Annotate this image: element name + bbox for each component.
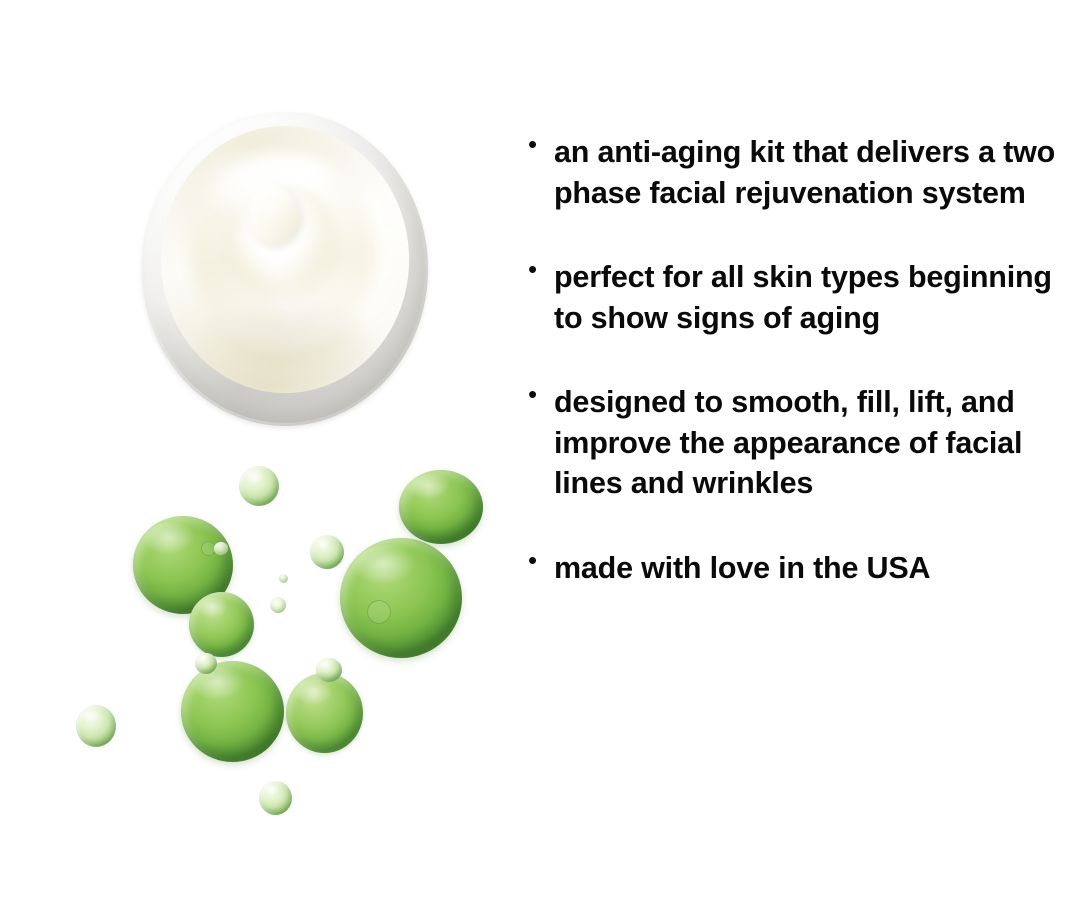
droplet-ring-mark — [367, 600, 391, 624]
cream-highlight — [195, 147, 332, 238]
jar-cream-surface — [161, 126, 410, 393]
droplet-small-attached-left — [316, 658, 342, 682]
droplet-tiny-center — [270, 597, 286, 613]
bullet-point-icon: • — [528, 132, 554, 144]
feature-bullet-list: • an anti-aging kit that delivers a two … — [528, 132, 1069, 633]
droplet-small-attached-mid — [195, 653, 217, 674]
cream-swirl-middle — [190, 153, 374, 350]
bullet-point-icon: • — [528, 382, 554, 394]
bullet-text: an anti-aging kit that delivers a two ph… — [554, 132, 1069, 213]
product-imagery — [0, 0, 520, 913]
list-item: • perfect for all skin types beginning t… — [528, 257, 1069, 338]
list-item: • an anti-aging kit that delivers a two … — [528, 132, 1069, 213]
list-item: • designed to smooth, fill, lift, and im… — [528, 382, 1069, 504]
droplet-small-bottom — [259, 781, 292, 815]
product-feature-graphic: • an anti-aging kit that delivers a two … — [0, 0, 1069, 913]
droplet-large-center — [340, 538, 462, 658]
bullet-text: made with love in the USA — [554, 548, 1069, 589]
droplet-tiny-left — [214, 542, 228, 555]
cream-swirl-outer — [161, 126, 410, 393]
droplet-small-upper-center — [310, 535, 344, 569]
bullet-point-icon: • — [528, 548, 554, 560]
cream-jar-image — [142, 112, 428, 426]
droplet-large-top-right — [399, 470, 483, 544]
droplet-small-top — [239, 466, 279, 506]
bullet-point-icon: • — [528, 257, 554, 269]
cream-swirl-inner — [225, 185, 339, 302]
bullet-text: perfect for all skin types beginning to … — [554, 257, 1069, 338]
list-item: • made with love in the USA — [528, 548, 1069, 589]
droplet-small-far-left — [76, 705, 116, 747]
bullet-text: designed to smooth, fill, lift, and impr… — [554, 382, 1069, 504]
droplet-medium-bottom — [286, 673, 363, 753]
droplet-medium-middle — [189, 592, 254, 657]
cream-swirl-peak — [240, 179, 305, 250]
droplet-tiny-speck — [279, 574, 288, 583]
droplet-large-bottom-left — [181, 661, 284, 762]
